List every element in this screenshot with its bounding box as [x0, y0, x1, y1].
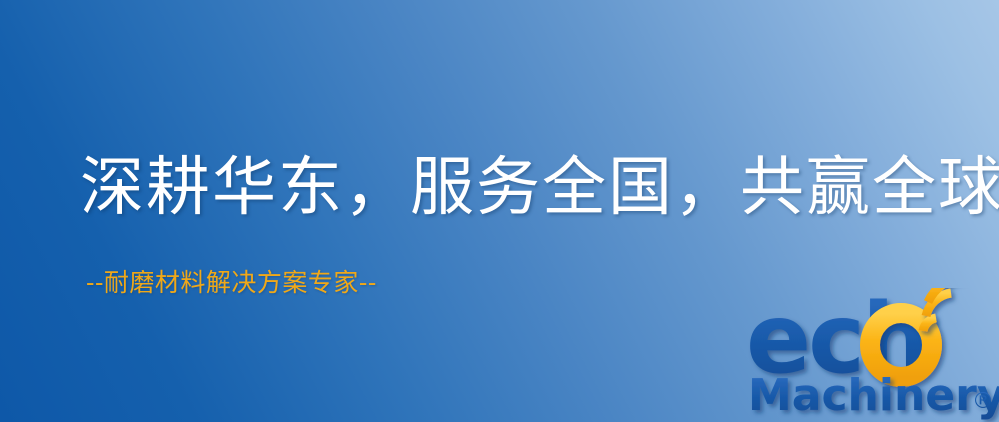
svg-text:®: ®	[972, 389, 994, 414]
svg-text:Machinery: Machinery	[748, 370, 999, 421]
banner-headline: 深耕华东，服务全国，共赢全球	[80, 152, 999, 224]
logo-wave-arcs-icon	[923, 288, 965, 331]
logo-tagline-icon: Machinery ®	[748, 370, 999, 421]
hero-banner: 深耕华东，服务全国，共赢全球 --耐磨材料解决方案专家--	[0, 0, 999, 422]
banner-subtitle: --耐磨材料解决方案专家--	[86, 268, 377, 298]
echo-machinery-logo: ech Machinery ®	[744, 288, 999, 422]
